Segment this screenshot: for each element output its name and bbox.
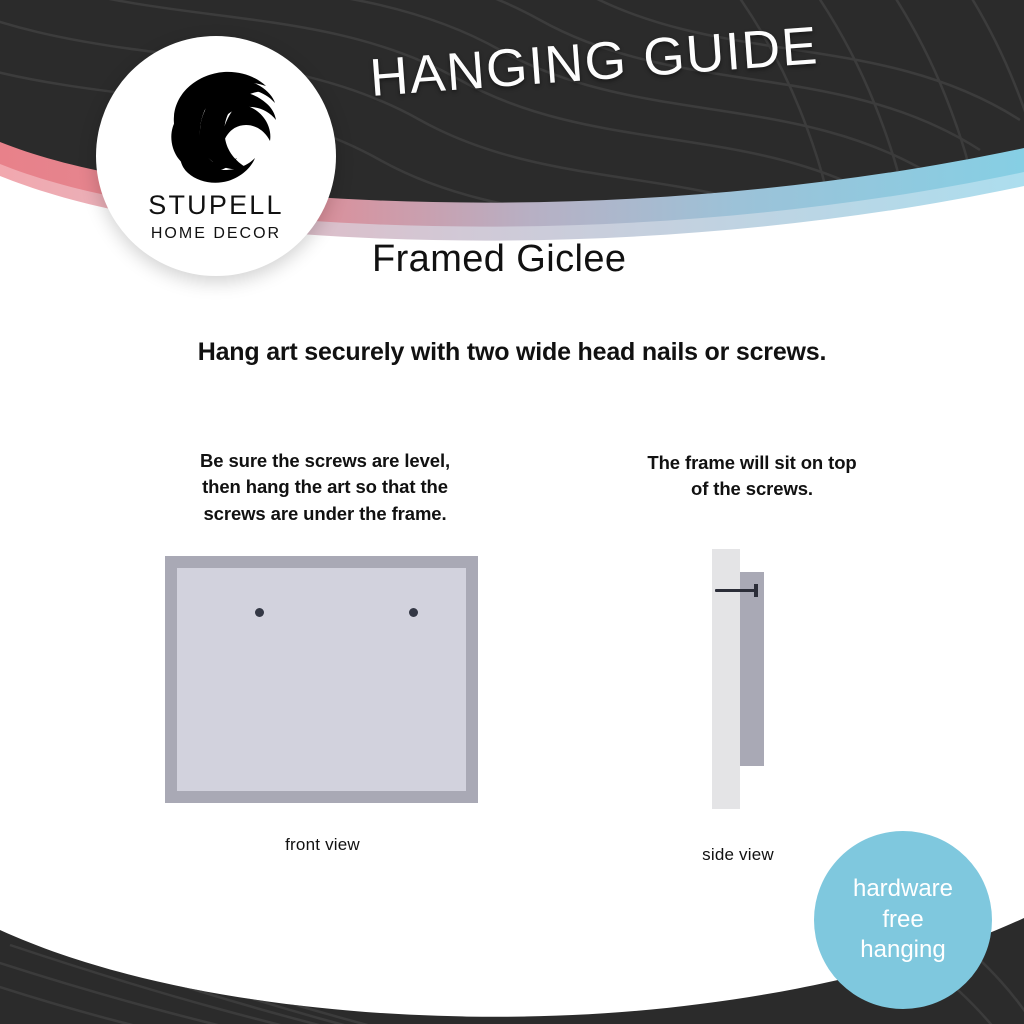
screw-dot-right-icon	[409, 608, 418, 617]
front-view-caption: Be sure the screws are level, then hang …	[160, 448, 490, 527]
logo-wordmark-primary: STUPELL	[148, 192, 283, 219]
wall-strip	[712, 549, 740, 809]
front-view-label: front view	[200, 835, 445, 855]
product-name: Framed Giclee	[372, 238, 626, 281]
stupell-swoosh-logo-icon	[156, 58, 276, 186]
nail-shaft-icon	[715, 589, 757, 592]
front-view-caption-line-2: then hang the art so that the	[160, 474, 490, 500]
front-view-caption-line-1: Be sure the screws are level,	[160, 448, 490, 474]
hardware-free-hanging-badge: hardware free hanging	[814, 831, 992, 1009]
side-view-label: side view	[658, 845, 818, 865]
logo-wordmark-secondary: HOME DECOR	[151, 226, 281, 242]
page-title: HANGING GUIDE	[368, 10, 891, 109]
side-view-caption-line-2: of the screws.	[598, 476, 906, 502]
main-instruction: Hang art securely with two wide head nai…	[0, 338, 1024, 367]
frame-side-profile	[740, 572, 764, 766]
screw-dot-left-icon	[255, 608, 264, 617]
hanging-guide-page: STUPELL HOME DECOR HANGING GUIDE Framed …	[0, 0, 1024, 1024]
picture-frame-outer	[165, 556, 478, 803]
badge-line-2: free	[882, 905, 923, 936]
picture-frame-mat	[177, 568, 466, 791]
front-view-caption-line-3: screws are under the frame.	[160, 501, 490, 527]
stupell-logo-badge: STUPELL HOME DECOR	[96, 36, 336, 276]
front-view-diagram	[165, 556, 478, 803]
side-view-caption: The frame will sit on top of the screws.	[598, 450, 906, 503]
side-view-diagram	[706, 545, 806, 813]
nail-head-icon	[754, 584, 758, 597]
side-view-caption-line-1: The frame will sit on top	[598, 450, 906, 476]
badge-line-3: hanging	[860, 935, 945, 966]
badge-line-1: hardware	[853, 874, 953, 905]
